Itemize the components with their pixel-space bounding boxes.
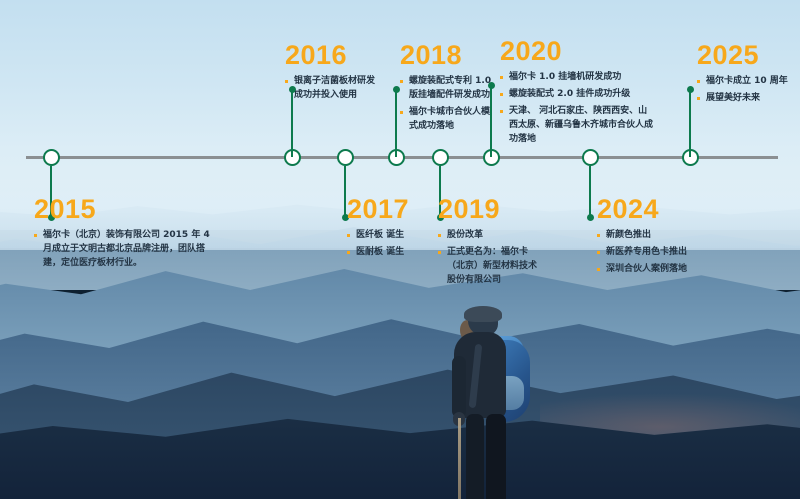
timeline-entry-2016[interactable]: 2016银离子洁菌板材研发成功并投入使用 <box>285 42 380 106</box>
entry-bullet-item: 福尔卡（北京）装饰有限公司 2015 年 4 月成立于文明古都北京品牌注册，团队… <box>34 229 219 271</box>
entry-year-label: 2025 <box>697 42 792 69</box>
entry-bullet-item: 螺旋装配式专利 1.0 版挂墙配件研发成功 <box>400 75 492 103</box>
entry-bullet-list: 福尔卡（北京）装饰有限公司 2015 年 4 月成立于文明古都北京品牌注册，团队… <box>34 229 219 271</box>
timeline-stem-2017 <box>344 166 346 218</box>
entry-bullet-item: 福尔卡 1.0 挂墙机研发成功 <box>500 71 655 85</box>
entry-bullet-item: 医耐板 诞生 <box>347 246 417 260</box>
timeline-stem-2018 <box>395 89 397 157</box>
entry-bullet-item: 新医养专用色卡推出 <box>597 246 702 260</box>
entry-year-label: 2017 <box>347 196 417 223</box>
timeline-node-2015[interactable] <box>43 149 60 166</box>
timeline-endpoint-2018 <box>393 86 400 93</box>
entry-bullet-list: 新颜色推出新医养专用色卡推出深圳合伙人案例落地 <box>597 229 702 277</box>
timeline-stem-2025 <box>689 89 691 157</box>
entry-bullet-item: 银离子洁菌板材研发成功并投入使用 <box>285 75 380 103</box>
timeline-entry-2020[interactable]: 2020福尔卡 1.0 挂墙机研发成功螺旋装配式 2.0 挂件成功升级天津、 河… <box>500 38 655 150</box>
entry-bullet-list: 医纤板 诞生医耐板 诞生 <box>347 229 417 260</box>
timeline-entry-2015[interactable]: 2015福尔卡（北京）装饰有限公司 2015 年 4 月成立于文明古都北京品牌注… <box>34 196 219 274</box>
entry-year-label: 2020 <box>500 38 655 65</box>
timeline-entry-2017[interactable]: 2017医纤板 诞生医耐板 诞生 <box>347 196 417 263</box>
timeline-entry-2018[interactable]: 2018螺旋装配式专利 1.0 版挂墙配件研发成功福尔卡城市合伙人模式成功落地 <box>400 42 492 137</box>
entry-bullet-item: 正式更名为：福尔卡（北京）新型材料技术股份有限公司 <box>438 246 543 288</box>
timeline-node-2019[interactable] <box>432 149 449 166</box>
entry-bullet-list: 福尔卡 1.0 挂墙机研发成功螺旋装配式 2.0 挂件成功升级天津、 河北石家庄… <box>500 71 655 147</box>
entry-bullet-item: 展望美好未来 <box>697 92 792 106</box>
timeline-entry-2024[interactable]: 2024新颜色推出新医养专用色卡推出深圳合伙人案例落地 <box>597 196 702 280</box>
entry-bullet-list: 螺旋装配式专利 1.0 版挂墙配件研发成功福尔卡城市合伙人模式成功落地 <box>400 75 492 134</box>
entry-bullet-item: 股份改革 <box>438 229 543 243</box>
entry-bullet-item: 福尔卡城市合伙人模式成功落地 <box>400 106 492 134</box>
timeline-endpoint-2024 <box>587 214 594 221</box>
entry-bullet-list: 福尔卡成立 10 周年展望美好未来 <box>697 75 792 106</box>
entry-bullet-item: 新颜色推出 <box>597 229 702 243</box>
entry-bullet-item: 深圳合伙人案例落地 <box>597 263 702 277</box>
entry-bullet-item: 福尔卡成立 10 周年 <box>697 75 792 89</box>
timeline-node-2017[interactable] <box>337 149 354 166</box>
timeline-entry-2025[interactable]: 2025福尔卡成立 10 周年展望美好未来 <box>697 42 792 109</box>
timeline: 2015福尔卡（北京）装饰有限公司 2015 年 4 月成立于文明古都北京品牌注… <box>0 0 800 499</box>
entry-year-label: 2016 <box>285 42 380 69</box>
entry-bullet-item: 医纤板 诞生 <box>347 229 417 243</box>
entry-bullet-list: 股份改革正式更名为：福尔卡（北京）新型材料技术股份有限公司 <box>438 229 543 288</box>
entry-bullet-list: 银离子洁菌板材研发成功并投入使用 <box>285 75 380 103</box>
timeline-endpoint-2025 <box>687 86 694 93</box>
entry-bullet-item: 螺旋装配式 2.0 挂件成功升级 <box>500 88 655 102</box>
timeline-node-2024[interactable] <box>582 149 599 166</box>
entry-year-label: 2019 <box>438 196 543 223</box>
entry-bullet-item: 天津、 河北石家庄、陕西西安、山西太原、新疆乌鲁木齐城市合伙人成功落地 <box>500 105 655 147</box>
entry-year-label: 2018 <box>400 42 492 69</box>
timeline-stem-2024 <box>589 166 591 218</box>
timeline-entry-2019[interactable]: 2019股份改革正式更名为：福尔卡（北京）新型材料技术股份有限公司 <box>438 196 543 291</box>
entry-year-label: 2015 <box>34 196 219 223</box>
entry-year-label: 2024 <box>597 196 702 223</box>
